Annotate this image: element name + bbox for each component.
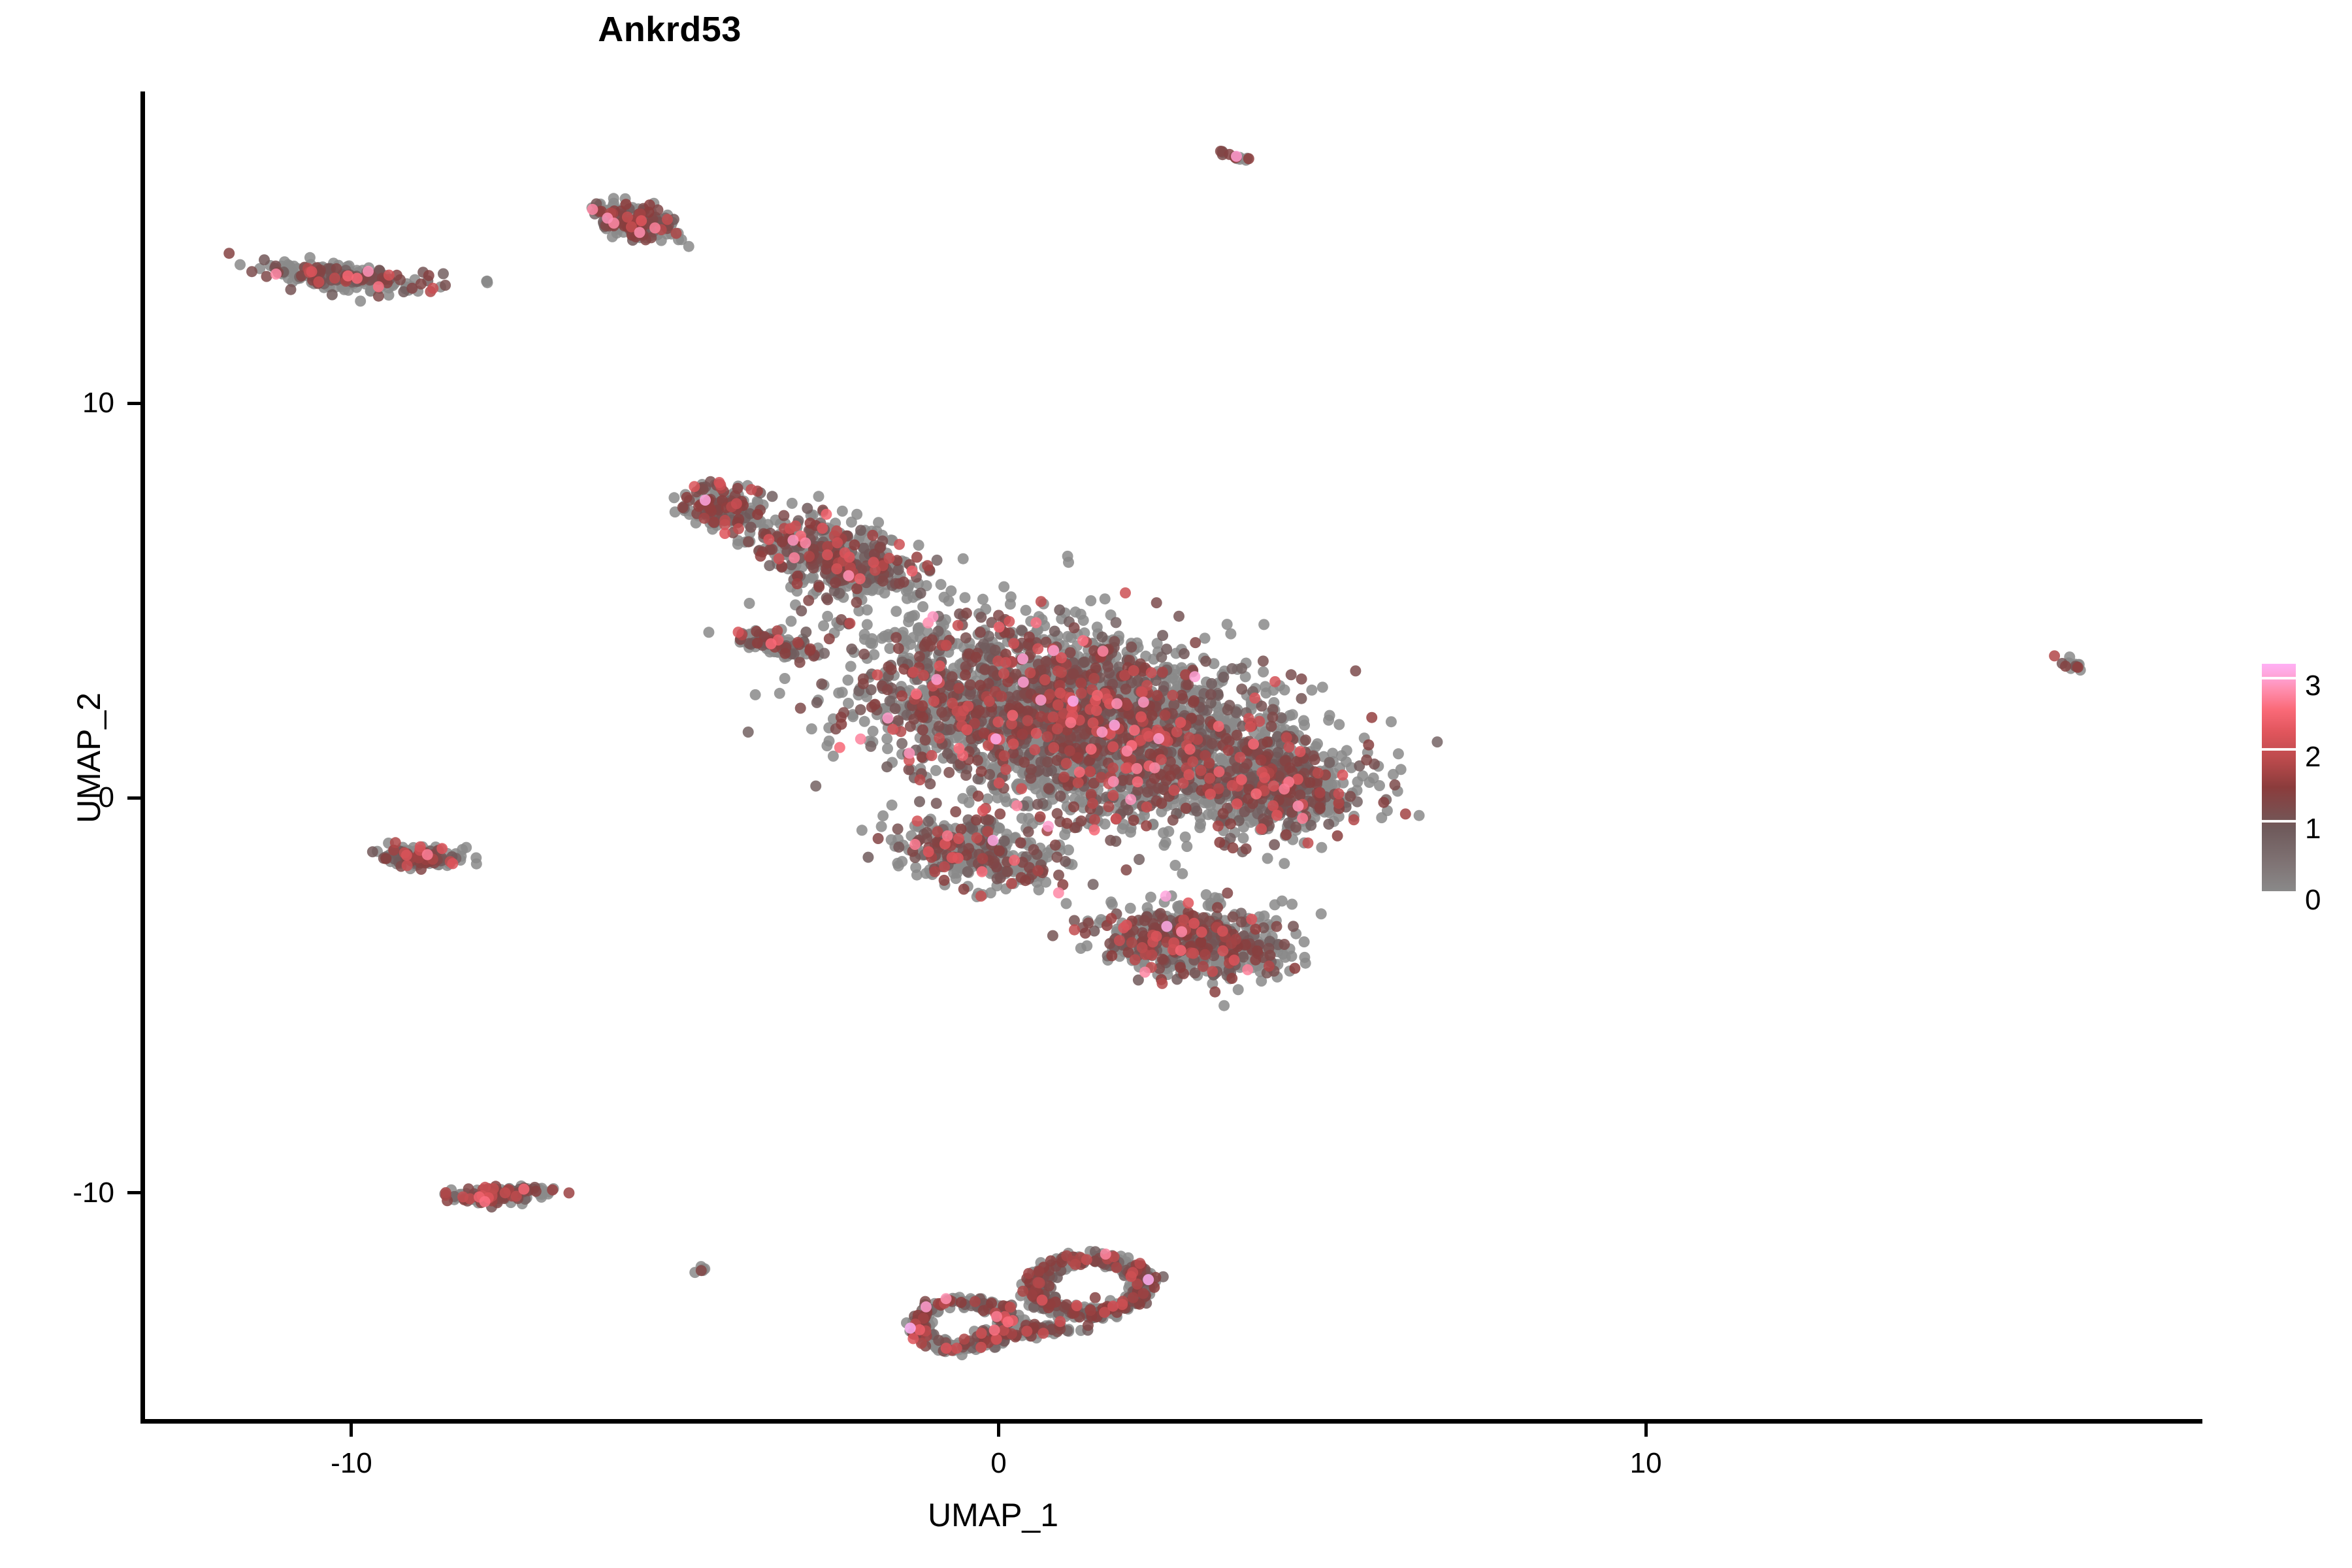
- y-tick-mark: [127, 1191, 140, 1194]
- y-tick-label: -10: [0, 1177, 114, 1209]
- x-axis-line: [140, 1419, 2202, 1424]
- y-tick-mark: [127, 402, 140, 405]
- y-axis-title: UMAP_2: [70, 693, 108, 823]
- plot-panel: [144, 91, 2202, 1422]
- legend-colorbar: 3210: [2262, 664, 2347, 899]
- colorbar-tick-label: 1: [2305, 813, 2321, 845]
- y-tick-label: 10: [0, 387, 114, 419]
- scatter-points-layer: [144, 91, 2202, 1422]
- x-tick-mark: [350, 1424, 353, 1437]
- colorbar-tick-mark: [2262, 820, 2296, 823]
- colorbar-tick-label: 3: [2305, 670, 2321, 702]
- y-axis-line: [140, 91, 145, 1424]
- x-tick-mark: [1644, 1424, 1648, 1437]
- colorbar-tick-mark: [2262, 677, 2296, 679]
- x-tick-label: 0: [990, 1447, 1006, 1480]
- colorbar-tick-mark: [2262, 748, 2296, 751]
- colorbar-tick-label: 0: [2305, 884, 2321, 917]
- colorbar-tick-mark: [2262, 891, 2296, 894]
- y-tick-mark: [127, 796, 140, 800]
- x-tick-label: 10: [1630, 1447, 1662, 1480]
- colorbar-tick-label: 2: [2305, 741, 2321, 774]
- colorbar-gradient: [2262, 664, 2296, 892]
- page-title: Ankrd53: [0, 0, 1339, 59]
- x-tick-mark: [997, 1424, 1000, 1437]
- x-axis-title: UMAP_1: [928, 1496, 1058, 1534]
- umap-feature-plot: Ankrd53 100-10 -10010 UMAP_1 UMAP_2 3210: [0, 0, 2352, 1568]
- x-tick-label: -10: [331, 1447, 372, 1480]
